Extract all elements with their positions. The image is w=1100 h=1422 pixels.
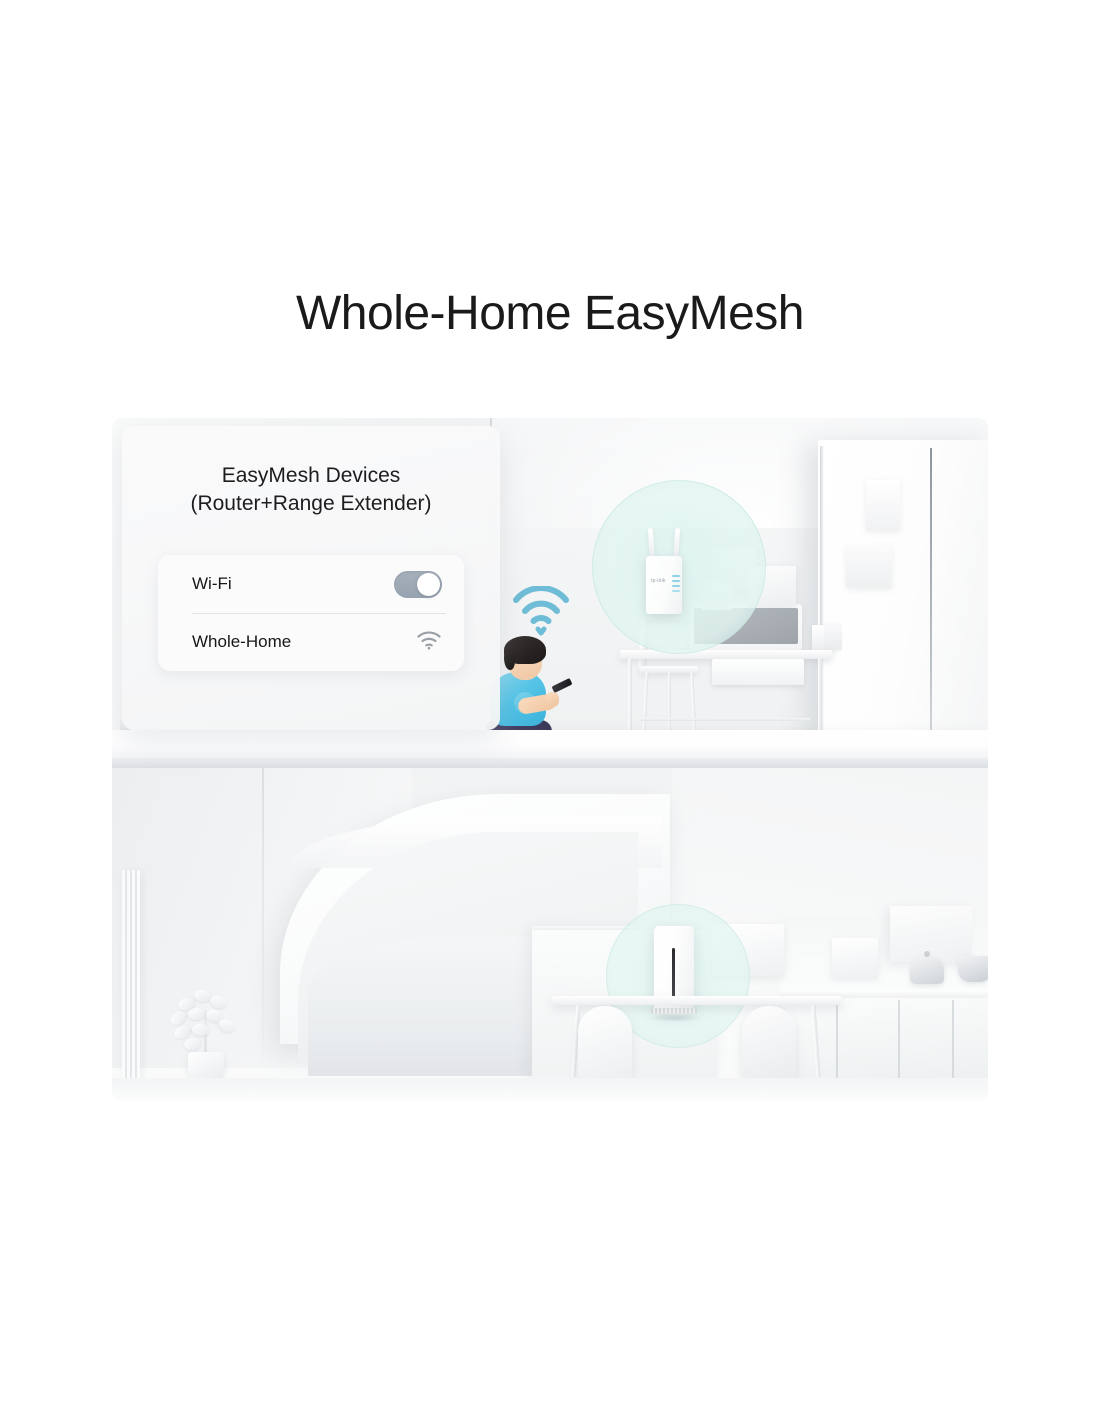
- whole-home-row-label: Whole-Home: [192, 632, 416, 652]
- dining-table-top: [552, 996, 842, 1005]
- cabinet-seam: [836, 1000, 838, 1086]
- router-shadow: [648, 1014, 702, 1022]
- dining-chair: [742, 1006, 796, 1082]
- page-title: Whole-Home EasyMesh: [0, 286, 1100, 341]
- settings-row-wifi[interactable]: Wi-Fi: [158, 555, 464, 613]
- desk-drawer: [712, 659, 804, 685]
- boy-hair-side: [504, 648, 515, 670]
- range-extender-device: tp-link: [643, 528, 685, 614]
- plant-leaf: [208, 993, 228, 1010]
- boy-hand: [546, 692, 559, 707]
- easymesh-devices-card: EasyMesh Devices (Router+Range Extender)…: [122, 426, 500, 730]
- radiator: [122, 870, 140, 1088]
- plant-leaf: [188, 1007, 206, 1020]
- extender-led: [672, 585, 680, 587]
- lower-floor-surface: [112, 1078, 988, 1101]
- potted-plant: [160, 964, 246, 1084]
- cabinet-seam: [898, 1000, 900, 1086]
- wardrobe-door-seam: [930, 448, 932, 748]
- cooking-pot: [910, 956, 944, 984]
- extender-led: [672, 590, 680, 592]
- desk-shelf: [640, 718, 810, 721]
- router-led-slot: [672, 948, 675, 1000]
- extender-led: [672, 575, 680, 577]
- kitchen-appliance: [832, 938, 878, 978]
- wardrobe: [818, 440, 988, 758]
- wifi-waves-blue: [510, 586, 572, 636]
- desk-leg: [628, 659, 632, 737]
- wifi-row-label: Wi-Fi: [192, 574, 394, 594]
- card-title: EasyMesh Devices (Router+Range Extender): [122, 462, 500, 518]
- kitchen-cabinet-upper: [890, 906, 972, 962]
- wifi-toggle[interactable]: [394, 571, 442, 598]
- wall-picture-frame-second: [846, 546, 892, 588]
- dining-chair: [578, 1006, 632, 1082]
- lower-wall-corner: [262, 768, 264, 1068]
- desk-surface: [620, 650, 832, 659]
- tp-link-logo: tp-link: [651, 578, 666, 584]
- wifi-settings-list[interactable]: Wi-Fi Whole-Home: [158, 555, 464, 671]
- wifi-signal-icon: [416, 630, 442, 655]
- wifi-toggle-knob: [417, 573, 440, 596]
- wall-picture-frame: [866, 480, 900, 530]
- cabinet-seam: [952, 1000, 954, 1086]
- scene-illustration: tp-link: [112, 418, 988, 1101]
- cooking-pot: [958, 956, 988, 982]
- plant-leaf: [193, 989, 212, 1003]
- floor-slab-edge: [112, 758, 988, 768]
- desk-chair-leg: [668, 672, 671, 732]
- desk-leg: [818, 659, 822, 737]
- plant-leaf: [216, 1017, 237, 1036]
- pot-lid-knob: [924, 951, 930, 957]
- desk-books: [824, 622, 842, 650]
- smartphone: [551, 678, 572, 693]
- settings-row-whole-home[interactable]: Whole-Home: [158, 613, 464, 671]
- plant-leaf: [183, 1036, 202, 1051]
- extender-led: [672, 580, 680, 582]
